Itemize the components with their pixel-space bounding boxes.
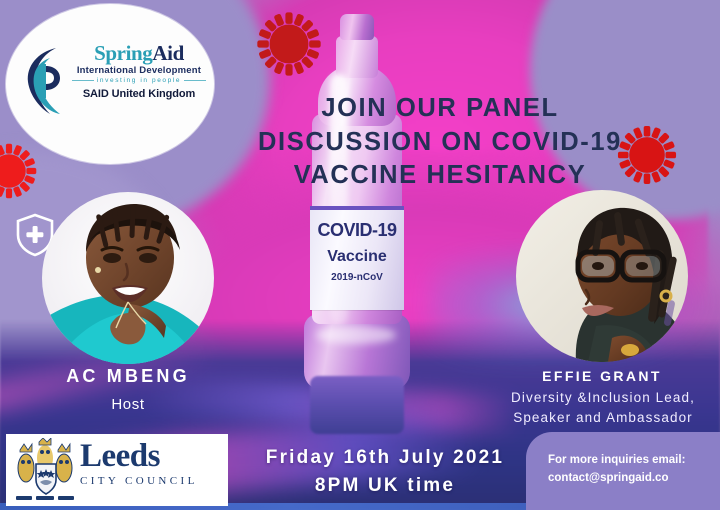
avatar xyxy=(42,192,214,364)
headline-line-3: VACCINE HESITANCY xyxy=(170,159,710,193)
vial-label-subtitle: Vaccine xyxy=(314,248,400,266)
event-datetime: Friday 16th July 2021 8PM UK time xyxy=(230,444,540,499)
springaid-wordmark: SpringAid xyxy=(72,42,206,64)
speaker-role-right-line2: Speaker and Ambassador xyxy=(513,410,693,425)
headline-line-2: DISCUSSION ON COVID-19 xyxy=(170,126,710,160)
springaid-subtitle: International Development xyxy=(72,65,206,76)
springaid-tagline: investing in people xyxy=(97,77,181,84)
vial-cap xyxy=(340,14,374,40)
leeds-city-council-logo: Leeds CITY COUNCIL xyxy=(6,434,228,506)
event-date: Friday 16th July 2021 xyxy=(266,447,504,468)
vial-neck xyxy=(336,36,378,78)
springaid-word-spring: Spring xyxy=(94,41,152,65)
contact-email[interactable]: contact@springaid.co xyxy=(548,470,716,488)
avatar xyxy=(516,190,688,362)
coronavirus-icon xyxy=(0,140,40,202)
leeds-wordmark: Leeds xyxy=(80,440,222,473)
springaid-tagline-row: investing in people xyxy=(72,77,206,84)
contact-label: For more inquiries email: xyxy=(548,452,716,470)
vial-label-code: 2019-nCoV xyxy=(314,272,400,283)
headline-line-1: JOIN OUR PANEL xyxy=(170,92,710,126)
vial-bottom-shadow xyxy=(310,376,404,434)
event-time: 8PM UK time xyxy=(315,475,455,496)
springaid-word-aid: Aid xyxy=(152,41,183,65)
leeds-crest-icon xyxy=(14,438,76,502)
vial-label: COVID-19 Vaccine 2019-nCoV xyxy=(310,206,404,310)
speaker-name-left: AC MBENG xyxy=(34,366,222,387)
speaker-role-right: Diversity &Inclusion Lead, Speaker and A… xyxy=(488,388,718,427)
speaker-role-left: Host xyxy=(34,396,222,413)
contact-info: For more inquiries email: contact@spring… xyxy=(548,452,716,488)
event-poster: COVID-19 Vaccine 2019-nCoV xyxy=(0,0,720,510)
speaker-name-right: EFFIE GRANT xyxy=(506,368,698,384)
vial-label-title: COVID-19 xyxy=(314,220,400,241)
tagline-rule-left xyxy=(72,80,94,81)
tagline-rule-right xyxy=(184,80,206,81)
speaker-role-right-line1: Diversity &Inclusion Lead, xyxy=(511,390,695,405)
springaid-mark-icon xyxy=(26,46,70,118)
vial-base-highlight xyxy=(316,326,396,344)
page-title: JOIN OUR PANEL DISCUSSION ON COVID-19 VA… xyxy=(170,92,710,193)
coronavirus-icon xyxy=(253,8,325,80)
leeds-subtitle: CITY COUNCIL xyxy=(80,475,222,487)
